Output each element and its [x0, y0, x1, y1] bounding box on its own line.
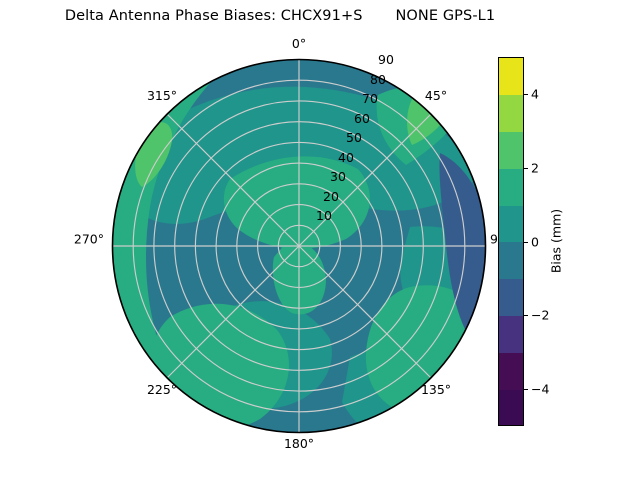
theta-tick-225: 225°: [147, 382, 177, 397]
theta-tick-180: 180°: [284, 436, 314, 451]
colorbar-tick-mark-0: [524, 94, 528, 95]
colorbar-tick-label-1: 2: [531, 160, 539, 175]
figure-canvas: Delta Antenna Phase Biases: CHCX91+S NON…: [0, 0, 640, 480]
colorbar-band-2: [499, 132, 523, 169]
r-tick-80: 80: [370, 72, 386, 87]
colorbar-tick-mark-1: [524, 168, 528, 169]
theta-tick-45: 45°: [425, 88, 447, 103]
colorbar-band-1: [499, 95, 523, 132]
page-title: Delta Antenna Phase Biases: CHCX91+S NON…: [0, 8, 560, 24]
colorbar-tick-label-0: 4: [531, 86, 539, 101]
colorbar-band-6: [499, 279, 523, 316]
theta-tick-315: 315°: [147, 88, 177, 103]
colorbar-band-3: [499, 169, 523, 206]
r-tick-40: 40: [338, 150, 354, 165]
colorbar-band-9: [499, 390, 523, 426]
r-tick-60: 60: [354, 111, 370, 126]
colorbar-band-4: [499, 206, 523, 243]
colorbar-band-8: [499, 353, 523, 390]
polar-contour-svg: [110, 57, 488, 435]
r-tick-30: 30: [330, 169, 346, 184]
theta-tick-135: 135°: [421, 382, 451, 397]
theta-tick-0: 0°: [292, 36, 306, 51]
colorbar-tick-label-3: −2: [531, 308, 549, 323]
colorbar-tick-label-2: 0: [531, 234, 539, 249]
theta-tick-270: 270°: [74, 232, 104, 247]
r-tick-10: 10: [316, 208, 332, 223]
r-tick-70: 70: [362, 91, 378, 106]
r-tick-20: 20: [323, 189, 339, 204]
r-tick-50: 50: [346, 130, 362, 145]
colorbar-tick-mark-4: [524, 389, 528, 390]
colorbar[interactable]: 420−2−4: [498, 57, 524, 426]
colorbar-gradient-strip: [498, 57, 524, 426]
colorbar-tick-label-4: −4: [531, 382, 549, 397]
r-tick-90: 90: [378, 52, 394, 67]
polar-grid: [113, 60, 486, 433]
polar-plot[interactable]: 0° 45° 90 135° 180° 225° 270° 315° 10 20…: [110, 57, 488, 435]
colorbar-tick-mark-2: [524, 242, 528, 243]
colorbar-axis-label: Bias (mm): [549, 209, 564, 273]
colorbar-band-5: [499, 242, 523, 279]
colorbar-tick-mark-3: [524, 315, 528, 316]
colorbar-band-7: [499, 316, 523, 353]
colorbar-band-0: [499, 58, 523, 95]
